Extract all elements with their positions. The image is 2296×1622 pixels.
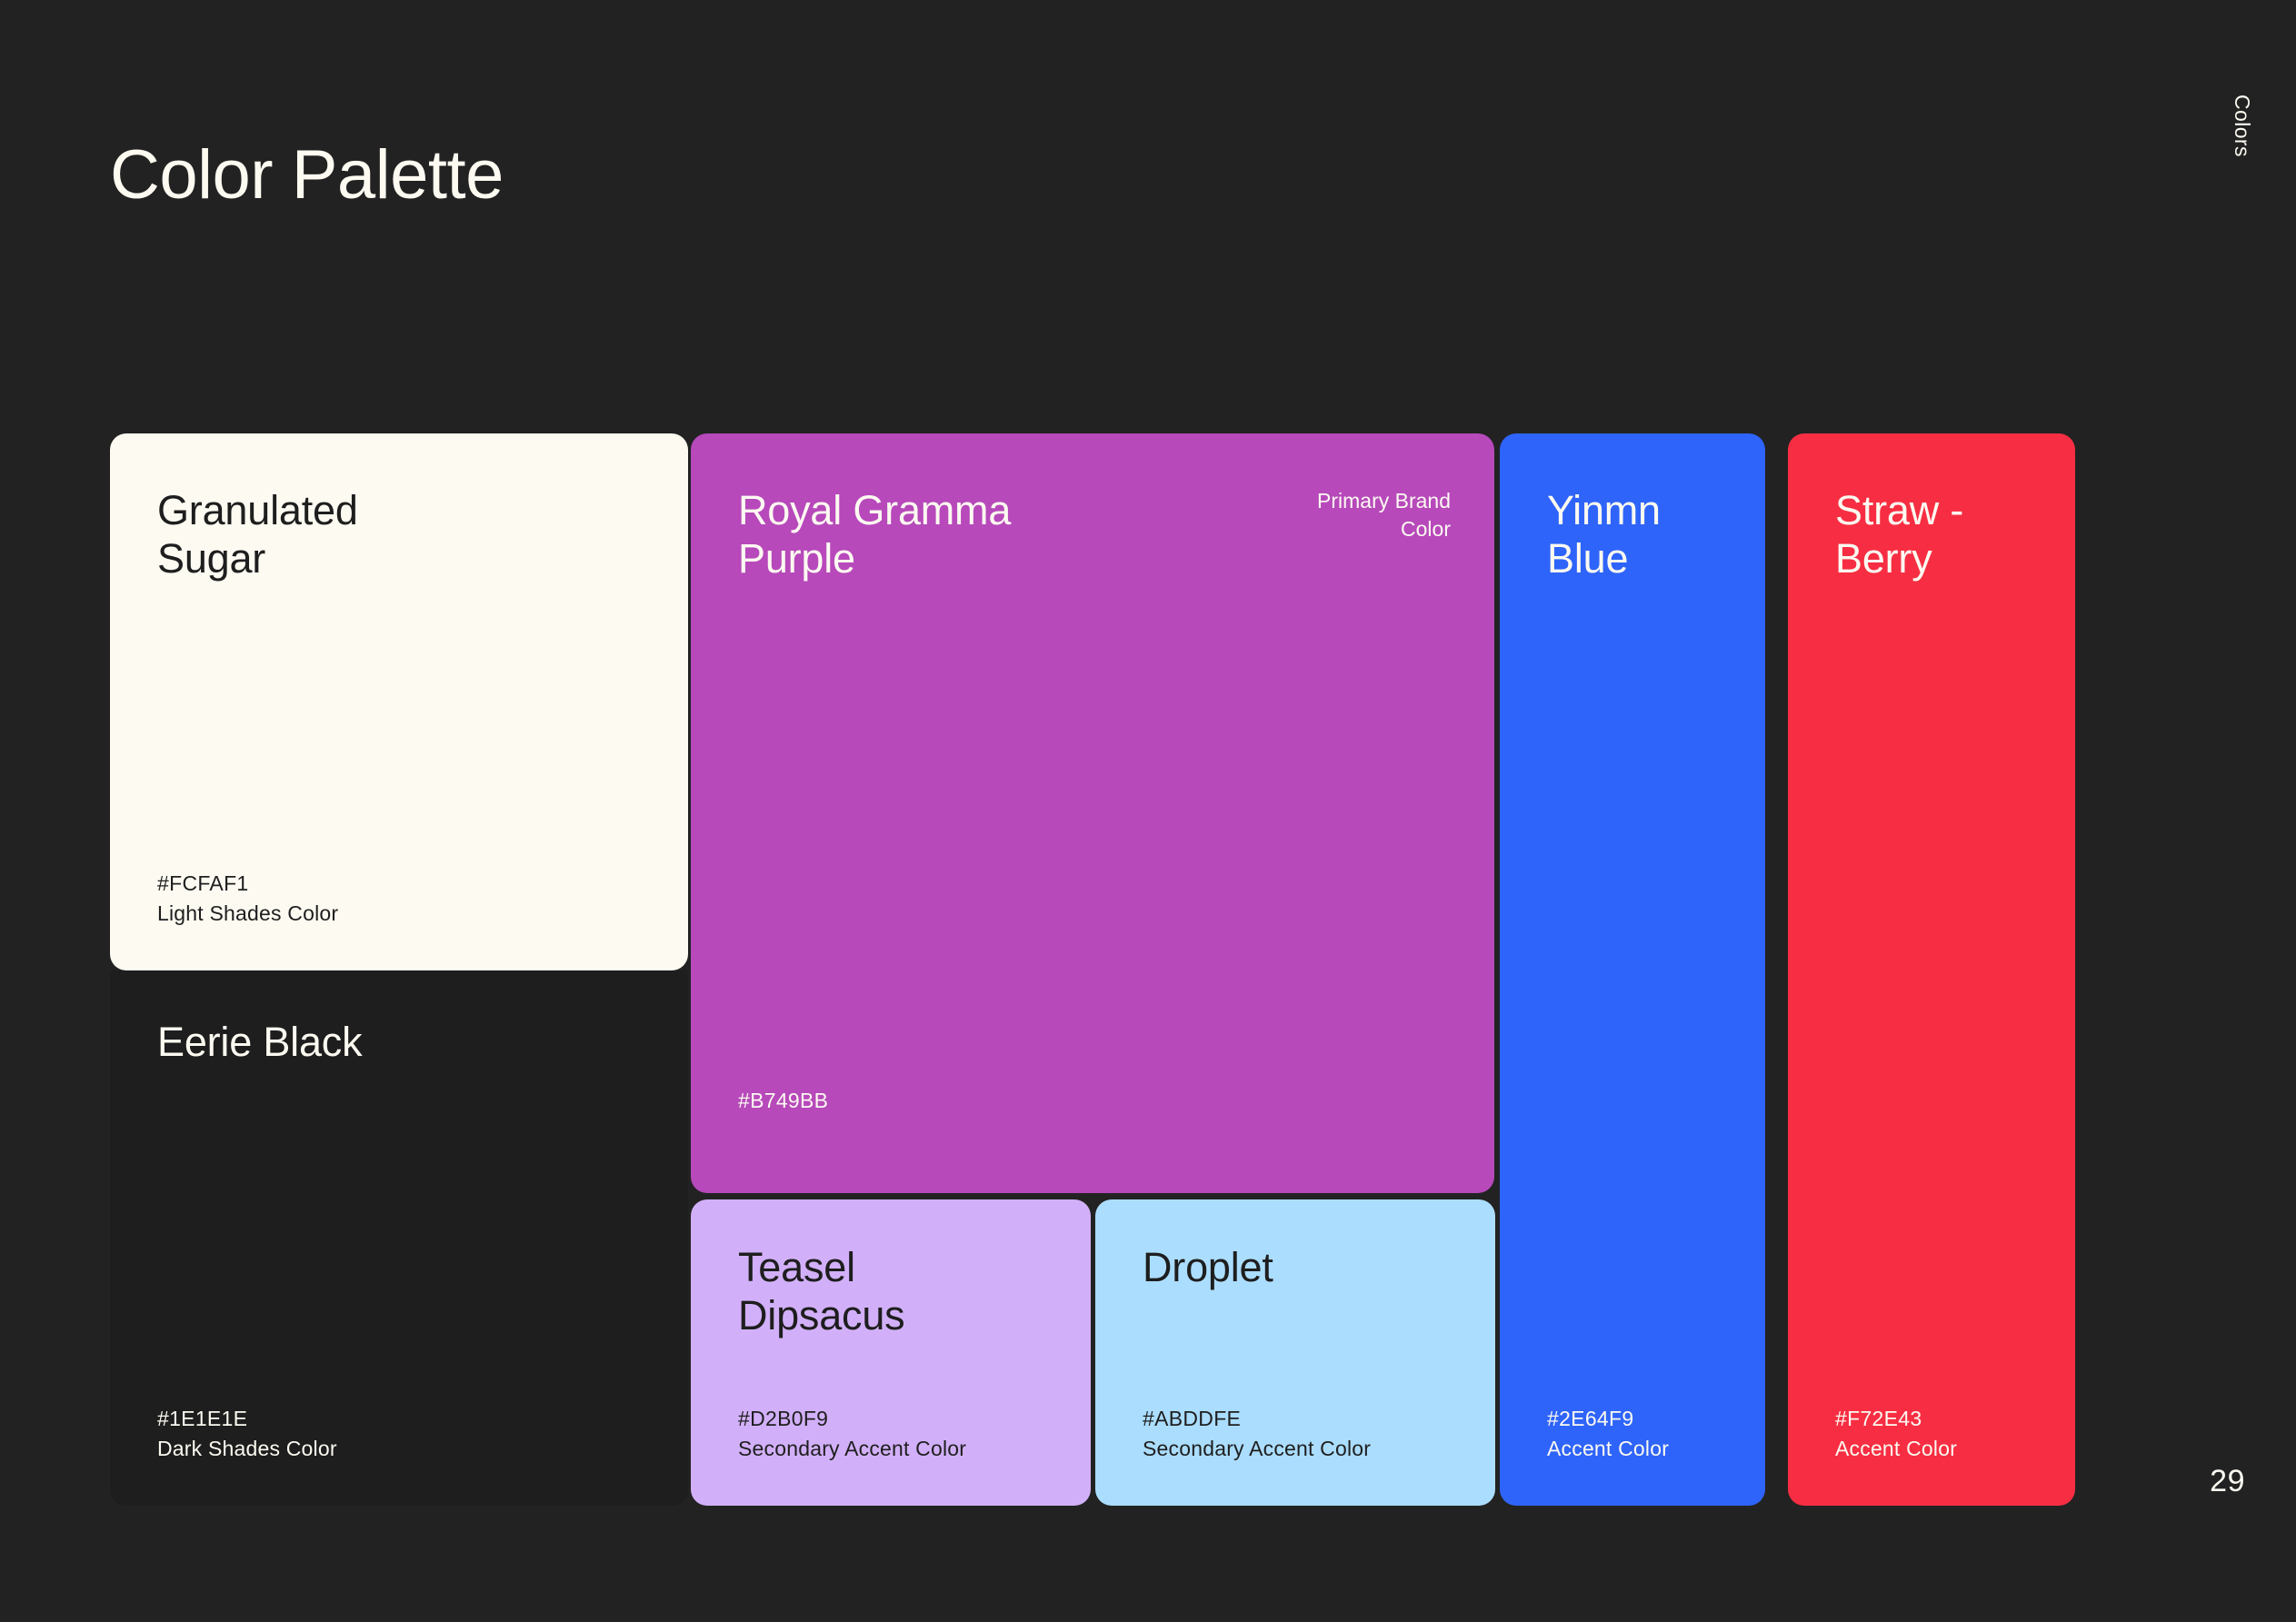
swatch-hex-code: #FCFAF1	[157, 869, 338, 899]
swatch-role-label: Accent Color	[1547, 1434, 1669, 1464]
swatch-hex-code: #B749BB	[738, 1086, 828, 1116]
swatch-name: Granulated Sugar	[157, 486, 358, 582]
color-swatch-royal-gramma-purple[interactable]: Royal Gramma Purple Primary Brand Color …	[691, 433, 1494, 1193]
swatch-meta: #2E64F9 Accent Color	[1547, 1404, 1669, 1465]
palette-grid: Granulated Sugar #FCFAF1 Light Shades Co…	[0, 0, 2296, 1622]
swatch-meta: #FCFAF1 Light Shades Color	[157, 869, 338, 930]
swatch-name: Droplet	[1143, 1243, 1273, 1291]
swatch-meta: #D2B0F9 Secondary Accent Color	[738, 1404, 966, 1465]
swatch-name: Teasel Dipsacus	[738, 1243, 904, 1339]
swatch-role-label: Dark Shades Color	[157, 1434, 337, 1464]
swatch-hex-code: #1E1E1E	[157, 1404, 337, 1434]
color-swatch-droplet[interactable]: Droplet #ABDDFE Secondary Accent Color	[1095, 1199, 1495, 1506]
swatch-role-label: Light Shades Color	[157, 899, 338, 929]
swatch-meta: #1E1E1E Dark Shades Color	[157, 1404, 337, 1465]
color-swatch-eerie-black[interactable]: Eerie Black #1E1E1E Dark Shades Color	[110, 970, 688, 1506]
color-swatch-granulated-sugar[interactable]: Granulated Sugar #FCFAF1 Light Shades Co…	[110, 433, 688, 970]
swatch-role-label: Accent Color	[1835, 1434, 1957, 1464]
swatch-name: Royal Gramma Purple	[738, 486, 1011, 582]
swatch-primary-brand-tag: Primary Brand Color	[1317, 487, 1451, 543]
swatch-hex-code: #D2B0F9	[738, 1404, 966, 1434]
color-swatch-teasel-dipsacus[interactable]: Teasel Dipsacus #D2B0F9 Secondary Accent…	[691, 1199, 1091, 1506]
color-swatch-yinmn-blue[interactable]: Yinmn Blue #2E64F9 Accent Color	[1500, 433, 1765, 1506]
swatch-hex-code: #F72E43	[1835, 1404, 1957, 1434]
swatch-name: Yinmn Blue	[1547, 486, 1661, 582]
swatch-role-label: Secondary Accent Color	[738, 1434, 966, 1464]
swatch-hex-code: #ABDDFE	[1143, 1404, 1371, 1434]
swatch-meta: #ABDDFE Secondary Accent Color	[1143, 1404, 1371, 1465]
swatch-meta: #F72E43 Accent Color	[1835, 1404, 1957, 1465]
swatch-role-label: Secondary Accent Color	[1143, 1434, 1371, 1464]
swatch-name: Straw - Berry	[1835, 486, 1963, 582]
swatch-meta: #B749BB	[738, 1086, 828, 1116]
swatch-hex-code: #2E64F9	[1547, 1404, 1669, 1434]
swatch-name: Eerie Black	[157, 1018, 362, 1066]
color-swatch-straw-berry[interactable]: Straw - Berry #F72E43 Accent Color	[1788, 433, 2075, 1506]
